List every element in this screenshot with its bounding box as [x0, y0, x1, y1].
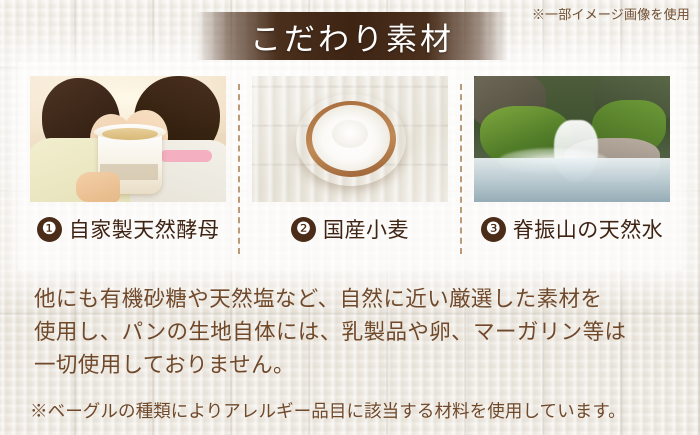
image-usage-note: ※一部イメージ画像を使用 [532, 4, 690, 23]
body-line-3: 一切使用しておりません。 [34, 349, 674, 382]
page-title: こだわり素材 [250, 14, 454, 59]
caption-natural-yeast: ❶ 自家製天然酵母 [37, 214, 220, 244]
number-badge-2: ❷ [291, 217, 316, 242]
feature-label-1: 自家製天然酵母 [69, 214, 220, 244]
feature-item-domestic-wheat: ❷ 国産小麦 [240, 76, 460, 262]
feature-item-natural-yeast: ❶ 自家製天然酵母 [18, 76, 238, 262]
infographic-panel: ※一部イメージ画像を使用 こだわり素材 ❶ [0, 0, 700, 435]
caption-domestic-wheat: ❷ 国産小麦 [291, 214, 409, 244]
number-badge-3: ❸ [481, 217, 506, 242]
allergy-disclaimer: ※ベーグルの種類によりアレルギー品目に該当する材料を使用しています。 [30, 398, 690, 423]
number-badge-1: ❶ [37, 217, 62, 242]
caption-spring-water: ❸ 脊振山の天然水 [481, 214, 664, 244]
child-hand [76, 172, 120, 202]
feature-item-spring-water: ❸ 脊振山の天然水 [462, 76, 682, 262]
photo-spring-water [474, 76, 670, 202]
section-title-banner: こだわり素材 [196, 12, 508, 60]
photo-domestic-wheat [252, 76, 448, 202]
yeast-starter-contents [102, 128, 158, 140]
stream-pool [474, 158, 670, 202]
body-line-1: 他にも有機砂糖や天然塩など、自然に近い厳選した素材を [34, 283, 674, 316]
feature-label-3: 脊振山の天然水 [513, 214, 664, 244]
child-right-pink-trim [160, 150, 212, 162]
feature-label-2: 国産小麦 [323, 214, 409, 244]
feature-columns: ❶ 自家製天然酵母 ❷ 国産小麦 [18, 76, 682, 262]
body-line-2: 使用し、パンの生地自体には、乳製品や卵、マーガリン等は [34, 316, 674, 349]
photo-natural-yeast [30, 76, 226, 202]
body-paragraph: 他にも有機砂糖や天然塩など、自然に近い厳選した素材を 使用し、パンの生地自体には… [34, 283, 674, 382]
flour-highlight [332, 120, 368, 148]
